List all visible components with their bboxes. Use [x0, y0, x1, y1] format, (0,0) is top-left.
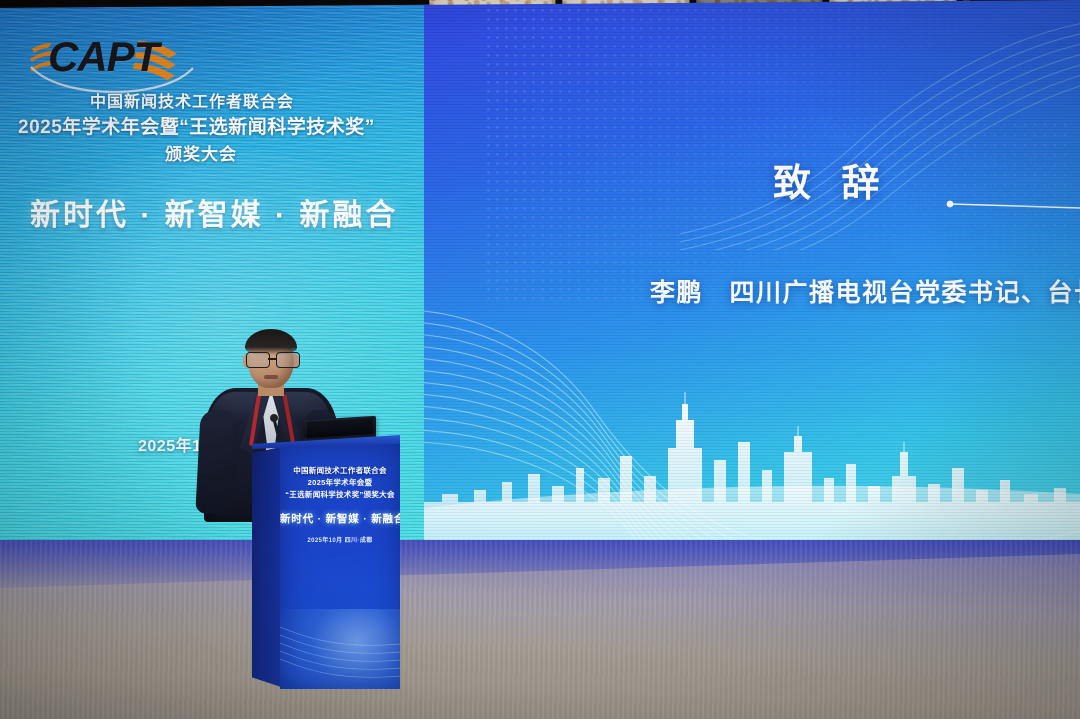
glasses-bridge: [268, 358, 276, 360]
halftone-dots: [484, 6, 1044, 306]
podium-front-panel: 中国新闻技术工作者联合会 2025年学术年会暨 “王选新闻科学技术奖”颁奖大会 …: [280, 443, 400, 689]
podium: 中国新闻技术工作者联合会 2025年学术年会暨 “王选新闻科学技术奖”颁奖大会 …: [252, 443, 400, 689]
stage-floor: [0, 540, 1080, 719]
speaker-name-and-title: 李鹏 四川广播电视台党委书记、台长: [650, 273, 1080, 309]
podium-light-glow: [280, 609, 400, 689]
speaker-left-arm: [195, 409, 234, 515]
laptop-screen: [307, 418, 373, 438]
speaker-mouth: [264, 375, 278, 379]
glasses-lens-right: [276, 352, 300, 368]
conference-stage-photo: CAPT 中国新闻技术工作者联合会 2025年学术年会暨“王选新闻科学技术奖” …: [0, 0, 1080, 719]
capt-logo: CAPT: [30, 33, 190, 91]
led-screen: CAPT 中国新闻技术工作者联合会 2025年学术年会暨“王选新闻科学技术奖” …: [0, 0, 1080, 600]
session-heading: 致 辞: [773, 152, 890, 207]
podium-tagline: 新时代 · 新智媒 · 新融合: [280, 511, 400, 526]
microphone-head: [270, 414, 278, 422]
bullet-dot-icon: [947, 201, 954, 208]
event-title-line-2: 2025年学术年会暨“王选新闻科学技术奖”: [18, 112, 375, 139]
podium-title-line-2: 2025年学术年会暨: [280, 477, 400, 488]
organization-name: 中国新闻技术工作者联合会: [90, 88, 294, 112]
podium-organization: 中国新闻技术工作者联合会: [280, 465, 400, 476]
glasses-lens-left: [246, 352, 270, 368]
stage-floor-edge: [0, 540, 1080, 596]
event-tagline: 新时代 · 新智媒 · 新融合: [30, 190, 398, 234]
event-title-line-3: 颁奖大会: [165, 140, 237, 165]
heading-underline: [944, 200, 1080, 224]
podium-side-panel: [252, 447, 281, 687]
podium-title-line-3: “王选新闻科学技术奖”颁奖大会: [280, 489, 400, 500]
glasses-icon: [243, 352, 301, 368]
podium-date-location: 2025年10月 四川·成都: [280, 535, 400, 544]
wave-lines-icon: [680, 10, 1080, 250]
